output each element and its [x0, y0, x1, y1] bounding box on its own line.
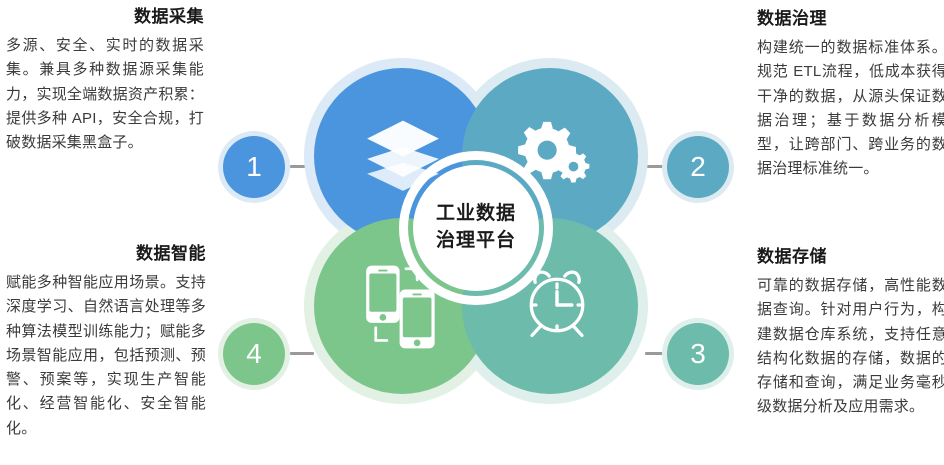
quadrant-title-data-governance: 数据治理 [757, 8, 944, 31]
badge-number-3: 3 [667, 323, 729, 385]
quadrant-text-data-governance: 数据治理 构建统一的数据标准体系。规范 ETL流程，低成本获得干净的数据，从源头… [757, 8, 944, 182]
quadrant-body-data-intelligence: 赋能多种智能应用场景。支持深度学习、自然语言处理等多种算法模型训练能力；赋能多场… [6, 271, 206, 441]
quadrant-title-data-collection: 数据采集 [6, 6, 204, 29]
quadrant-text-data-intelligence: 数据智能 赋能多种智能应用场景。支持深度学习、自然语言处理等多种算法模型训练能力… [6, 243, 206, 441]
quadrant-title-data-storage: 数据存储 [757, 246, 944, 269]
badge-number-2: 2 [667, 136, 729, 198]
badge-number-4: 4 [223, 323, 285, 385]
quadrant-text-data-storage: 数据存储 可靠的数据存储，高性能数据查询。针对用户行为，构建数据仓库系统，支持任… [757, 246, 944, 420]
hub-core: 工业数据 治理平台 [413, 165, 539, 291]
quadrant-title-data-intelligence: 数据智能 [6, 243, 206, 266]
quadrant-body-data-collection: 多源、安全、实时的数据采集。兼具多种数据源采集能力，实现全端数据资产积累：提供多… [6, 34, 204, 155]
petal-cluster: 工业数据 治理平台 [296, 58, 656, 408]
quadrant-body-data-storage: 可靠的数据存储，高性能数据查询。针对用户行为，构建数据仓库系统，支持任意结构化数… [757, 274, 944, 420]
quadrant-text-data-collection: 数据采集 多源、安全、实时的数据采集。兼具多种数据源采集能力，实现全端数据资产积… [6, 6, 204, 155]
infographic-canvas: 数据采集 多源、安全、实时的数据采集。兼具多种数据源采集能力，实现全端数据资产积… [0, 0, 944, 465]
quadrant-body-data-governance: 构建统一的数据标准体系。规范 ETL流程，低成本获得干净的数据，从源头保证数据治… [757, 36, 944, 182]
hub-label: 工业数据 治理平台 [436, 201, 516, 255]
badge-number-1: 1 [223, 136, 285, 198]
